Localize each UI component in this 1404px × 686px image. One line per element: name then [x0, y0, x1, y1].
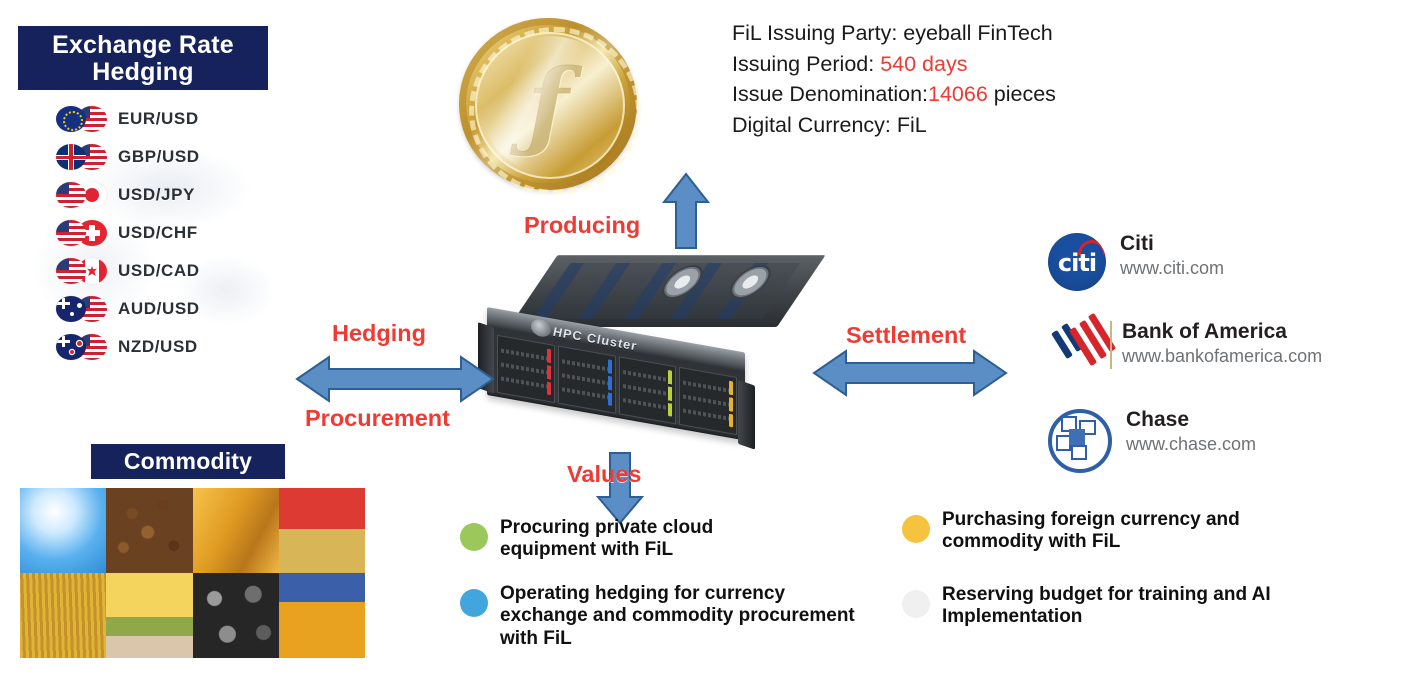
value-legend-item-1: Procuring private cloud equipment with F… [460, 517, 790, 562]
coin-symbol: ƒ [459, 18, 637, 190]
drive-bay [619, 356, 677, 424]
settlement-arrow-bidirectional [812, 349, 1008, 397]
list-item[interactable]: USD/CAD [56, 252, 276, 290]
issuing-period-label: Issuing Period: [732, 52, 880, 76]
citi-wordmark: citi [1048, 249, 1106, 277]
exchange-rate-title-line1: Exchange Rate [52, 32, 234, 59]
server-vendor-badge-icon [531, 318, 551, 339]
nz-flag-icon [56, 334, 86, 360]
legend-bullet-gray [902, 590, 930, 618]
commodity-header: Commodity [92, 445, 284, 478]
bank-url[interactable]: www.citi.com [1120, 257, 1224, 280]
value-legend-item-3: Purchasing foreign currency and commodit… [902, 509, 1322, 554]
legend-text: Reserving budget for training and AI Imp… [942, 584, 1322, 629]
issuing-period-value: 540 days [880, 52, 967, 76]
server-right-ear [738, 380, 755, 450]
citi-logo-icon: citi [1048, 233, 1106, 291]
fil-issuance-info: FiL Issuing Party: eyeball FinTech Issui… [732, 18, 1162, 141]
server-front-panel: HPC Cluster [487, 307, 745, 440]
settlement-label: Settlement [846, 322, 966, 349]
bank-url[interactable]: www.chase.com [1126, 433, 1256, 456]
flag-pair-aud-usd [56, 294, 118, 324]
hpc-cluster-server: HPC Cluster [487, 255, 777, 400]
bank-name: Citi [1120, 233, 1224, 255]
digital-currency-line: Digital Currency: FiL [732, 110, 1162, 141]
coffee-beans-photo [106, 488, 192, 573]
fil-coin-icon: ƒ [455, 16, 650, 194]
exchange-rate-title-line2: Hedging [92, 59, 193, 86]
list-item-citi[interactable]: citi Citi www.citi.com [1048, 233, 1224, 291]
flag-pair-usd-cad [56, 256, 118, 286]
au-flag-icon [56, 296, 86, 322]
legend-bullet-green [460, 523, 488, 551]
legend-bullet-blue [460, 589, 488, 617]
drive-bay [558, 345, 616, 413]
currency-pair-label: USD/CAD [118, 261, 200, 281]
legend-text: Procuring private cloud equipment with F… [500, 517, 790, 562]
digital-currency-label: Digital Currency: FiL [732, 113, 927, 137]
gb-flag-icon [56, 144, 86, 170]
list-item[interactable]: USD/JPY [56, 176, 276, 214]
flag-pair-eur-usd [56, 104, 118, 134]
currency-pair-label: USD/CHF [118, 223, 198, 243]
settlement-banks-list: citi Citi www.citi.com Bank of America w… [1048, 233, 1348, 483]
bank-text: Citi www.citi.com [1120, 233, 1224, 280]
coin-body: ƒ [459, 18, 637, 190]
currency-pair-list: EUR/USD GBP/USD USD/JPY USD/CHF [56, 100, 276, 366]
bank-text: Bank of America www.bankofamerica.com [1122, 321, 1322, 368]
legend-text: Operating hedging for currency exchange … [500, 583, 870, 650]
bank-url[interactable]: www.bankofamerica.com [1122, 345, 1322, 368]
flag-pair-gbp-usd [56, 142, 118, 172]
denomination-unit: pieces [988, 82, 1056, 106]
legend-bullet-yellow [902, 515, 930, 543]
industrial-plant-photo [279, 573, 365, 658]
eu-flag-icon [56, 106, 86, 132]
hedging-procurement-arrow-bidirectional [295, 355, 495, 403]
issuing-period-line: Issuing Period: 540 days [732, 49, 1162, 80]
chase-logo-icon [1048, 409, 1112, 473]
issuing-party-label: FiL Issuing Party: eyeball FinTech [732, 21, 1053, 45]
currency-pair-label: EUR/USD [118, 109, 199, 129]
denomination-value: 14066 [928, 82, 988, 106]
drive-bay [497, 335, 555, 403]
denomination-label: Issue Denomination: [732, 82, 928, 106]
currency-pair-label: AUD/USD [118, 299, 200, 319]
value-legend-item-4: Reserving budget for training and AI Imp… [902, 584, 1322, 629]
drive-bay [679, 367, 737, 435]
gold-bars-photo [193, 488, 279, 573]
olive-oil-photo [106, 573, 192, 658]
currency-pair-label: NZD/USD [118, 337, 198, 357]
commodity-title: Commodity [124, 449, 252, 474]
producing-arrow-up [663, 172, 709, 250]
us-flag-icon [56, 220, 86, 246]
values-label: Values [567, 461, 641, 488]
us-flag-icon [56, 182, 86, 208]
issuing-party-line: FiL Issuing Party: eyeball FinTech [732, 18, 1162, 49]
hedging-label: Hedging [332, 320, 426, 347]
denomination-line: Issue Denomination:14066 pieces [732, 79, 1162, 110]
coal-photo [193, 573, 279, 658]
list-item-bank-of-america[interactable]: Bank of America www.bankofamerica.com [1048, 321, 1322, 373]
bank-name: Bank of America [1122, 321, 1322, 343]
currency-pair-label: USD/JPY [118, 185, 195, 205]
wheat-field-photo [20, 573, 106, 658]
sky-sun-photo [20, 488, 106, 573]
diagram-canvas: Exchange Rate Hedging EUR/USD GBP/USD US… [0, 0, 1404, 686]
value-legend-item-2: Operating hedging for currency exchange … [460, 583, 870, 650]
flag-pair-usd-jpy [56, 180, 118, 210]
list-item[interactable]: USD/CHF [56, 214, 276, 252]
list-item[interactable]: GBP/USD [56, 138, 276, 176]
us-flag-icon [56, 258, 86, 284]
bank-text: Chase www.chase.com [1126, 409, 1256, 456]
server-top-chassis [509, 255, 826, 327]
procurement-label: Procurement [305, 405, 450, 432]
bank-name: Chase [1126, 409, 1256, 431]
list-item-chase[interactable]: Chase www.chase.com [1048, 409, 1256, 473]
flag-pair-nzd-usd [56, 332, 118, 362]
producing-label: Producing [524, 212, 640, 239]
exchange-rate-hedging-header: Exchange Rate Hedging [19, 27, 267, 89]
harvester-photo [279, 488, 365, 573]
list-item[interactable]: EUR/USD [56, 100, 276, 138]
commodity-image-collage [20, 488, 365, 658]
list-item[interactable]: AUD/USD [56, 290, 276, 328]
list-item[interactable]: NZD/USD [56, 328, 276, 366]
currency-pair-label: GBP/USD [118, 147, 200, 167]
bank-of-america-logo-icon [1048, 321, 1108, 373]
legend-text: Purchasing foreign currency and commodit… [942, 509, 1322, 554]
flag-pair-usd-chf [56, 218, 118, 248]
